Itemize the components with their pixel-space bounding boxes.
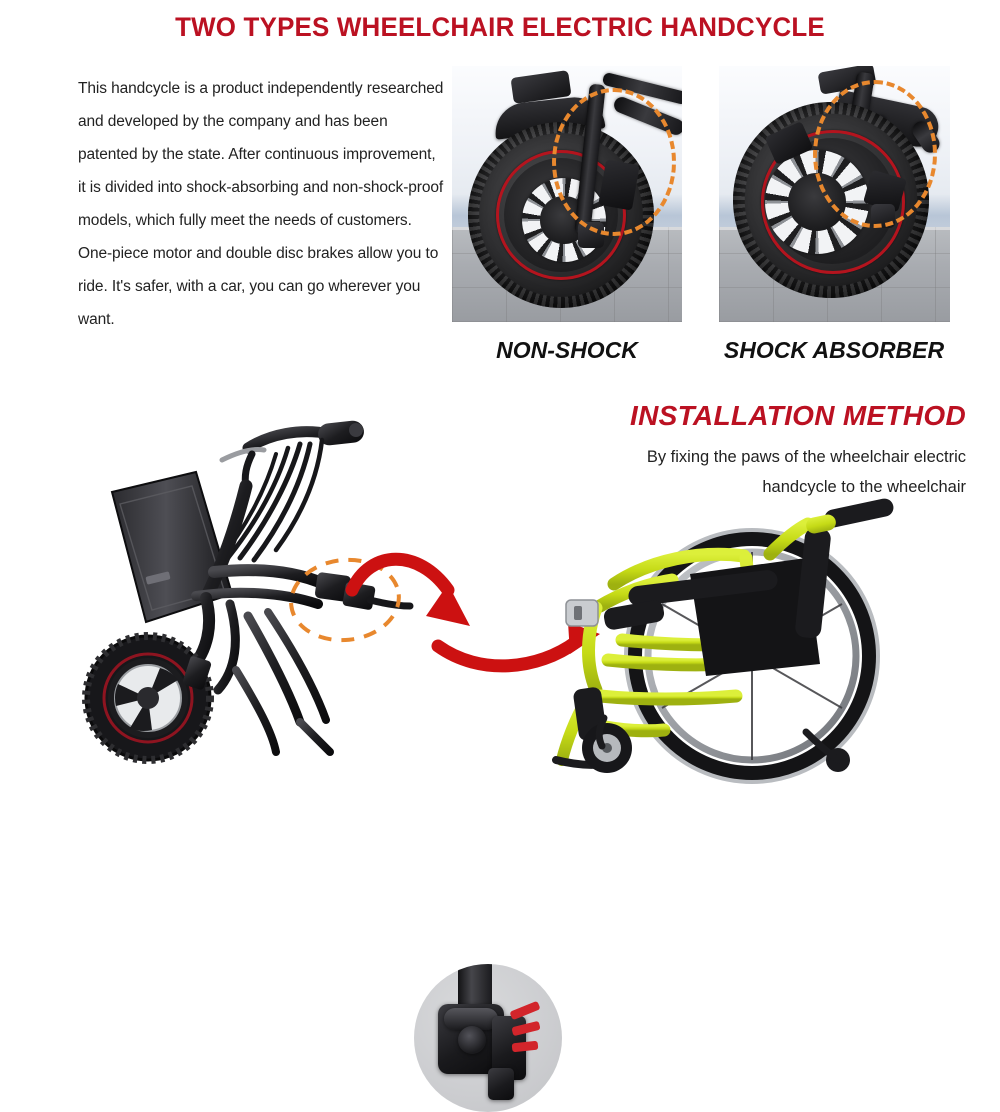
photo-non-shock bbox=[452, 66, 682, 322]
product-infographic-page: TWO TYPES WHEELCHAIR ELECTRIC HANDCYCLE … bbox=[0, 0, 1000, 804]
red-curved-arrow-to-wheelchair bbox=[438, 622, 600, 666]
wheelchair-push-handle bbox=[805, 497, 895, 535]
orange-dashed-circle-icon bbox=[552, 88, 676, 236]
installation-diagram bbox=[0, 408, 1000, 804]
caption-shock-absorber: SHOCK ABSORBER bbox=[705, 337, 963, 364]
intro-paragraph: This handcycle is a product independentl… bbox=[78, 72, 446, 336]
red-lever-top bbox=[509, 1001, 540, 1021]
caption-non-shock: NON-SHOCK bbox=[452, 337, 682, 364]
wheelchair-attachment-bracket bbox=[566, 600, 598, 626]
handcycle-handlebars bbox=[222, 420, 365, 488]
red-lever-bottom bbox=[512, 1041, 539, 1053]
clamp-pivot bbox=[458, 1026, 486, 1054]
clamp-lower-lug bbox=[488, 1068, 514, 1100]
handcycle-front-wheel bbox=[86, 636, 212, 760]
clamp-detail-inset bbox=[414, 964, 562, 1112]
handcycle-illustration bbox=[0, 408, 1000, 804]
battery-pack bbox=[112, 472, 232, 622]
page-title: TWO TYPES WHEELCHAIR ELECTRIC HANDCYCLE bbox=[20, 12, 980, 43]
wheelchair-illustration bbox=[556, 497, 895, 782]
handcycle-brake-rotor bbox=[115, 665, 181, 731]
photo-shock-absorber bbox=[719, 66, 950, 322]
orange-dashed-circle-icon bbox=[813, 80, 937, 228]
